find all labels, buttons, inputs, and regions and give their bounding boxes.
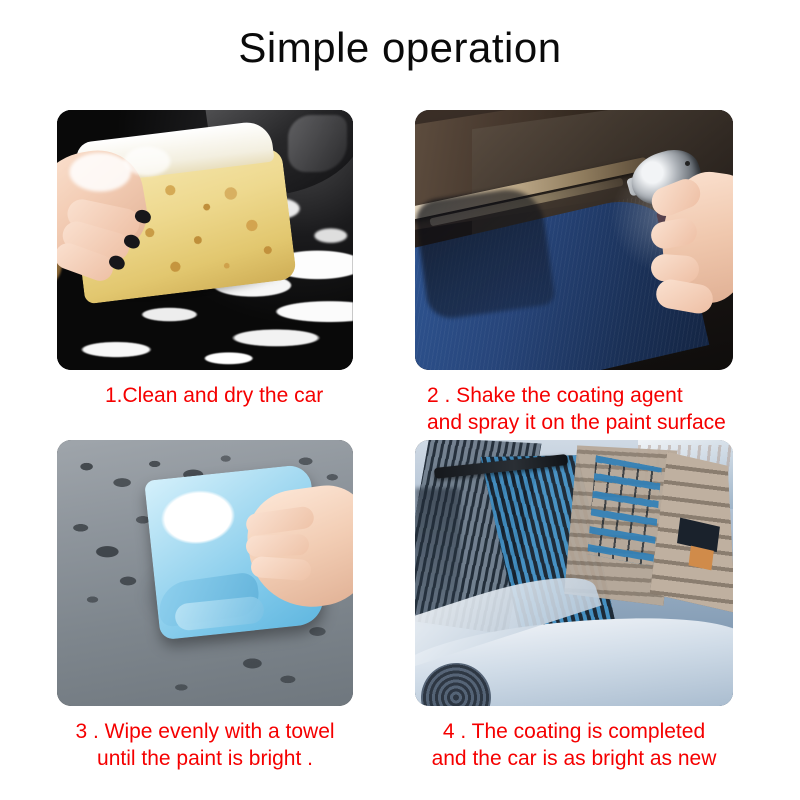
step-card-2: 2 . Shake the coating agent and spray it…	[415, 110, 733, 463]
photo-wash-with-sponge	[57, 110, 353, 370]
photo-spray-coating-agent	[415, 110, 733, 370]
photo-coating-completed	[415, 440, 733, 706]
page-title: Simple operation	[0, 24, 800, 72]
soap-suds-on-hand	[63, 141, 187, 219]
shadow-patch	[415, 185, 556, 321]
step-card-1: 1.Clean and dry the car	[57, 110, 353, 409]
step-caption-4: 4 . The coating is completed and the car…	[415, 718, 733, 772]
step-card-4: 4 . The coating is completed and the car…	[415, 440, 733, 772]
finger	[650, 253, 700, 284]
simple-operation-infographic: Simple operation	[0, 0, 800, 800]
hand-holding-spray-bottle	[638, 162, 733, 334]
step-caption-1: 1.Clean and dry the car	[57, 382, 353, 409]
step-card-3: 3 . Wipe evenly with a towel until the p…	[57, 440, 353, 772]
step-caption-3: 3 . Wipe evenly with a towel until the p…	[57, 718, 353, 772]
photo-wipe-with-towel	[57, 440, 353, 706]
reflected-windows	[587, 456, 662, 568]
hand-wiping	[229, 488, 353, 626]
finger	[245, 534, 308, 557]
